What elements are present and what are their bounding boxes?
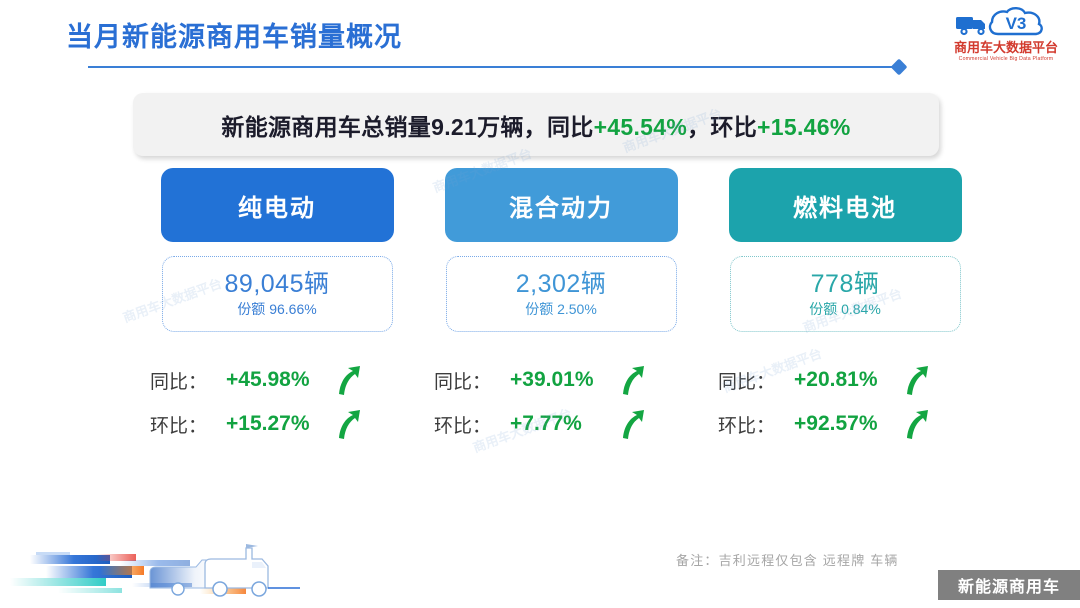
stat-row-mom: 环比： +7.77% xyxy=(434,402,706,446)
trend-up-arrow-icon xyxy=(620,408,646,440)
stat-label: 同比： xyxy=(434,367,510,394)
footer-note: 备注：吉利远程仅包含 远程牌 车辆 xyxy=(676,550,899,569)
logo-cn-name: 商用车大数据平台 xyxy=(944,41,1068,55)
stat-row-mom: 环比： +15.27% xyxy=(150,402,422,446)
stat-value: +45.98% xyxy=(226,368,330,392)
title-divider-endpoint xyxy=(891,59,908,76)
summary-prefix: 新能源商用车总销量9.21万辆，同比 xyxy=(221,114,593,140)
value-card-hybrid: 2,302辆 份额 2.50% xyxy=(446,256,677,332)
stat-label: 环比： xyxy=(718,411,794,438)
stat-label: 同比： xyxy=(718,367,794,394)
stat-row-mom: 环比： +92.57% xyxy=(718,402,990,446)
logo-truck-cloud-icon: V3 xyxy=(944,6,1068,40)
stat-label: 环比： xyxy=(434,411,510,438)
trend-up-arrow-icon xyxy=(336,408,362,440)
summary-middle: ，环比 xyxy=(687,114,757,140)
category-column-bev: 纯电动 89,045辆 份额 96.66% 同比： +45.98% 环比： +1… xyxy=(132,168,422,446)
summary-banner: 新能源商用车总销量9.21万辆，同比+45.54%，环比+15.46% xyxy=(133,93,939,156)
trend-up-arrow-icon xyxy=(336,364,362,396)
volume-value: 2,302辆 xyxy=(516,270,607,298)
stat-row-yoy: 同比： +45.98% xyxy=(150,358,422,402)
stat-label: 同比： xyxy=(150,367,226,394)
stat-value: +92.57% xyxy=(794,412,898,436)
category-pill-hybrid[interactable]: 混合动力 xyxy=(445,168,678,242)
share-value: 份额 0.84% xyxy=(809,299,881,319)
share-value: 份额 96.66% xyxy=(237,299,316,319)
category-column-hybrid: 混合动力 2,302辆 份额 2.50% 同比： +39.01% 环比： +7.… xyxy=(416,168,706,446)
brand-logo: V3 商用车大数据平台 Commercial Vehicle Big Data … xyxy=(944,6,1068,68)
stats-group-bev: 同比： +45.98% 环比： +15.27% xyxy=(132,358,422,446)
title-divider xyxy=(88,66,900,68)
trend-up-arrow-icon xyxy=(904,364,930,396)
trend-up-arrow-icon xyxy=(620,364,646,396)
stats-group-fuelcell: 同比： +20.81% 环比： +92.57% xyxy=(700,358,990,446)
category-columns: 纯电动 89,045辆 份额 96.66% 同比： +45.98% 环比： +1… xyxy=(0,168,1080,488)
volume-value: 89,045辆 xyxy=(225,270,330,298)
category-pill-bev[interactable]: 纯电动 xyxy=(161,168,394,242)
category-pill-fuelcell[interactable]: 燃料电池 xyxy=(729,168,962,242)
summary-mom-value: +15.46% xyxy=(757,114,851,140)
stat-value: +39.01% xyxy=(510,368,614,392)
share-value: 份额 2.50% xyxy=(525,299,597,319)
value-card-bev: 89,045辆 份额 96.66% xyxy=(162,256,393,332)
decorative-truck-graphic xyxy=(0,500,330,608)
summary-yoy-value: +45.54% xyxy=(594,114,688,140)
trend-up-arrow-icon xyxy=(904,408,930,440)
stat-value: +15.27% xyxy=(226,412,330,436)
page-header: 当月新能源商用车销量概况 V3 商用车大数据平台 Commercial Vehi… xyxy=(0,0,1080,80)
stat-row-yoy: 同比： +20.81% xyxy=(718,358,990,402)
stat-row-yoy: 同比： +39.01% xyxy=(434,358,706,402)
value-card-fuelcell: 778辆 份额 0.84% xyxy=(730,256,961,332)
page-title: 当月新能源商用车销量概况 xyxy=(66,15,402,54)
category-label: 燃料电池 xyxy=(793,188,897,223)
stat-value: +20.81% xyxy=(794,368,898,392)
category-label: 混合动力 xyxy=(509,188,613,223)
logo-en-name: Commercial Vehicle Big Data Platform xyxy=(946,55,1065,63)
category-label: 纯电动 xyxy=(238,188,316,223)
summary-text: 新能源商用车总销量9.21万辆，同比+45.54%，环比+15.46% xyxy=(221,108,850,142)
svg-text:V3: V3 xyxy=(1006,14,1027,33)
footer-section-tag: 新能源商用车 xyxy=(938,570,1080,600)
footer-tag-label: 新能源商用车 xyxy=(958,573,1060,597)
stats-group-hybrid: 同比： +39.01% 环比： +7.77% xyxy=(416,358,706,446)
volume-value: 778辆 xyxy=(811,270,880,298)
category-column-fuelcell: 燃料电池 778辆 份额 0.84% 同比： +20.81% 环比： +92.5… xyxy=(700,168,990,446)
stat-label: 环比： xyxy=(150,411,226,438)
stat-value: +7.77% xyxy=(510,412,614,436)
